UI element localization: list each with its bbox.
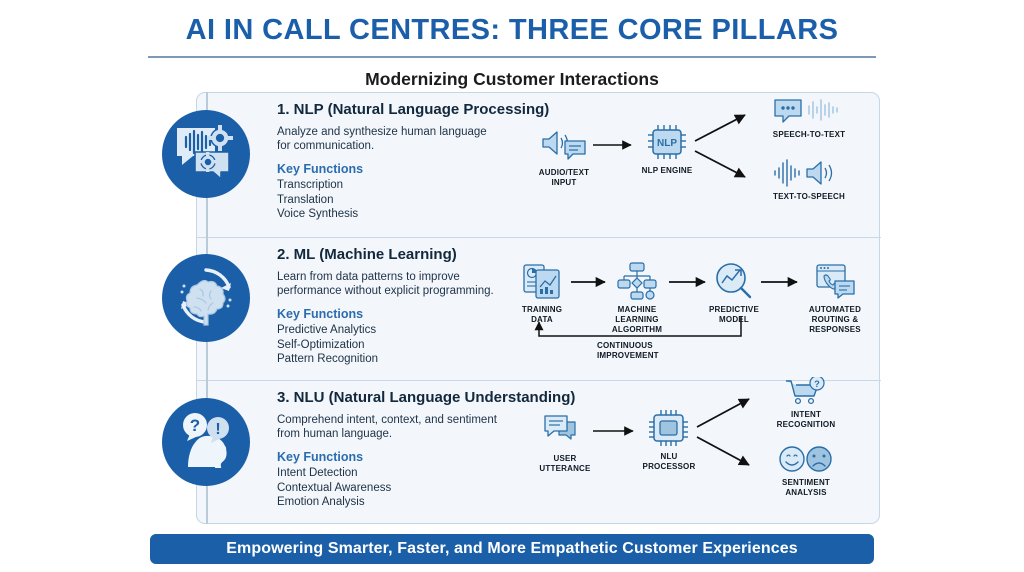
node-speech-to-text: SPEECH-TO-TEXT [749, 95, 869, 140]
list-item: Self-Optimization [277, 338, 502, 353]
waveform-speaker-icon [749, 157, 869, 189]
nlp-title: 1. NLP (Natural Language Processing) [277, 101, 502, 118]
nlp-description: Analyze and synthesize human language fo… [277, 125, 502, 153]
pillar-icon-nlp [162, 110, 250, 198]
nlu-key-functions-label: Key Functions [277, 450, 502, 464]
page-title: AI IN CALL CENTRES: THREE CORE PILLARS [0, 14, 1024, 47]
node-label: TRAINING DATA [511, 305, 573, 325]
node-label: MACHINE LEARNING ALGORITHM [605, 305, 669, 335]
list-item: Pattern Recognition [277, 352, 502, 367]
chat-bubbles-icon [527, 409, 603, 451]
node-label: PREDICTIVE MODEL [705, 305, 763, 325]
title-divider [148, 56, 876, 58]
ml-flow-diagram: TRAINING DATA [509, 238, 881, 382]
node-ml-algorithm: MACHINE LEARNING ALGORITHM [605, 260, 669, 335]
list-item: Voice Synthesis [277, 207, 502, 222]
infographic-page: AI IN CALL CENTRES: THREE CORE PILLARS M… [0, 0, 1024, 572]
node-user-utterance: USER UTTERANCE [527, 409, 603, 474]
node-label: NLP ENGINE [633, 166, 701, 176]
node-label: SENTIMENT ANALYSIS [751, 478, 861, 498]
page-subtitle: Modernizing Customer Interactions [0, 69, 1024, 90]
pillar-section-nlp: 1. NLP (Natural Language Processing) Ana… [197, 93, 881, 237]
node-intent-recognition: ? INTENT RECOGNITION [751, 377, 861, 430]
smiley-faces-icon [751, 443, 861, 475]
flowchart-nodes-icon [605, 260, 669, 302]
ml-key-functions-list: Predictive Analytics Self-Optimization P… [277, 323, 502, 367]
pillar-icon-nlu: ? ! [162, 398, 250, 486]
ml-loop-label: CONTINUOUS IMPROVEMENT [597, 341, 707, 361]
node-label: USER UTTERANCE [527, 454, 603, 474]
pillar-section-ml: 2. ML (Machine Learning) Learn from data… [197, 237, 881, 381]
node-label: NLU PROCESSOR [635, 452, 703, 472]
nlu-text-column: 3. NLU (Natural Language Understanding) … [277, 389, 502, 510]
node-text-to-speech: TEXT-TO-SPEECH [749, 157, 869, 202]
ml-title: 2. ML (Machine Learning) [277, 246, 502, 263]
processor-chip-icon [635, 407, 703, 449]
node-nlp-engine: NLP NLP ENGINE [633, 121, 701, 176]
node-training-data: TRAINING DATA [511, 260, 573, 325]
node-nlu-processor: NLU PROCESSOR [635, 407, 703, 472]
node-label: TEXT-TO-SPEECH [749, 192, 869, 202]
magnifier-trend-icon [705, 260, 763, 302]
nlp-flow-diagram: AUDIO/TEXT INPUT [509, 93, 881, 237]
nlp-key-functions-label: Key Functions [277, 162, 502, 176]
node-label: SPEECH-TO-TEXT [749, 130, 869, 140]
pillars-panel: 1. NLP (Natural Language Processing) Ana… [196, 92, 880, 524]
nlp-chip-icon: NLP [633, 121, 701, 163]
node-label: AUDIO/TEXT INPUT [525, 168, 603, 188]
nlu-flow-diagram: USER UTTERANCE [509, 381, 881, 525]
node-label: AUTOMATED ROUTING & RESPONSES [797, 305, 873, 335]
footer-banner: Empowering Smarter, Faster, and More Emp… [150, 534, 874, 564]
ml-description: Learn from data patterns to improve perf… [277, 270, 502, 298]
nlp-key-functions-list: Transcription Translation Voice Synthesi… [277, 178, 502, 222]
list-item: Intent Detection [277, 466, 502, 481]
nlp-text-column: 1. NLP (Natural Language Processing) Ana… [277, 101, 502, 222]
footer-text: Empowering Smarter, Faster, and More Emp… [226, 540, 797, 558]
chat-waveform-icon [749, 95, 869, 127]
list-item: Emotion Analysis [277, 495, 502, 510]
ml-text-column: 2. ML (Machine Learning) Learn from data… [277, 246, 502, 367]
pillar-icon-ml [162, 254, 250, 342]
header: AI IN CALL CENTRES: THREE CORE PILLARS M… [0, 0, 1024, 90]
svg-text:?: ? [814, 379, 820, 389]
speech-bubbles-gears-icon [173, 122, 239, 187]
svg-text:NLP: NLP [657, 138, 677, 149]
window-phone-chat-icon [797, 260, 873, 302]
nlu-key-functions-list: Intent Detection Contextual Awareness Em… [277, 466, 502, 510]
brain-cycle-icon [173, 265, 239, 332]
svg-text:?: ? [190, 416, 200, 435]
ml-key-functions-label: Key Functions [277, 307, 502, 321]
node-predictive-model: PREDICTIVE MODEL [705, 260, 763, 325]
head-question-exclaim-icon: ? ! [174, 409, 238, 476]
list-item: Contextual Awareness [277, 481, 502, 496]
svg-text:!: ! [215, 421, 220, 438]
speaker-chat-icon [525, 123, 603, 165]
nlu-title: 3. NLU (Natural Language Understanding) [277, 389, 502, 406]
documents-chart-icon [511, 260, 573, 302]
list-item: Transcription [277, 178, 502, 193]
cart-question-icon: ? [751, 377, 861, 407]
node-label: INTENT RECOGNITION [751, 410, 861, 430]
nlu-description: Comprehend intent, context, and sentimen… [277, 413, 502, 441]
node-audio-text-input: AUDIO/TEXT INPUT [525, 123, 603, 188]
pillar-section-nlu: 3. NLU (Natural Language Understanding) … [197, 381, 881, 525]
node-sentiment-analysis: SENTIMENT ANALYSIS [751, 443, 861, 498]
list-item: Predictive Analytics [277, 323, 502, 338]
list-item: Translation [277, 193, 502, 208]
node-automated-routing: AUTOMATED ROUTING & RESPONSES [797, 260, 873, 335]
